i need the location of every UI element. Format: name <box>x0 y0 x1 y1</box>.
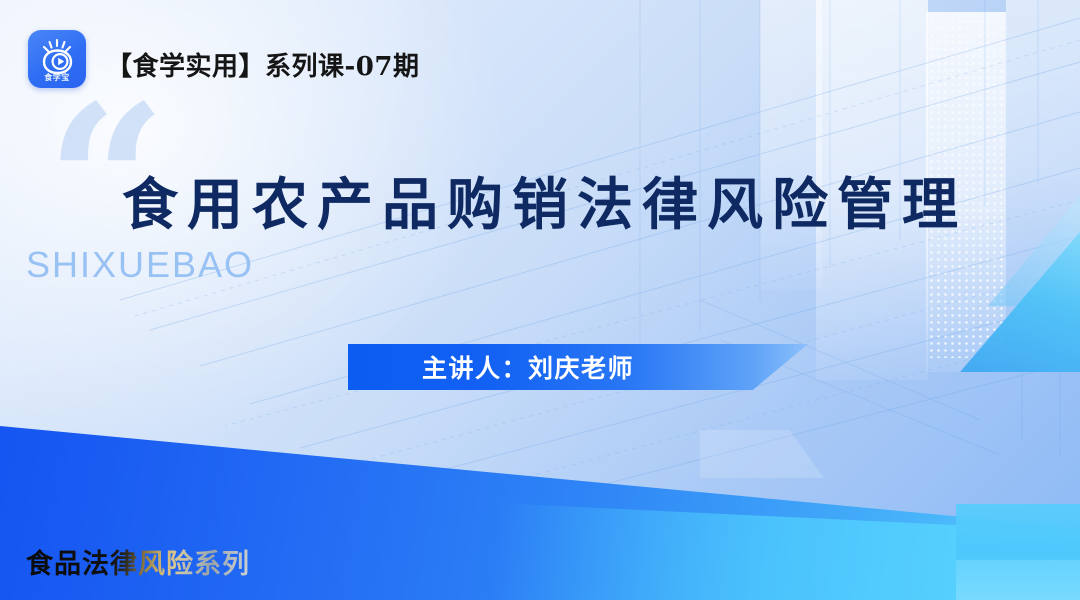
brand-logo[interactable]: 食学宝 <box>28 30 86 88</box>
speaker-label: 主讲人：刘庆老师 <box>348 349 634 385</box>
main-title: 食用农产品购销法律风险管理 <box>0 160 1080 241</box>
logo-wordmark: 食学宝 <box>28 74 86 82</box>
footer-series-label: 食品法律风险系列 <box>26 542 250 581</box>
speaker-banner: 主讲人：刘庆老师 <box>348 344 808 390</box>
brand-watermark-en: SHIXUEBAO <box>26 244 254 286</box>
series-header-title: 【食学实用】系列课-07期 <box>106 46 419 83</box>
cyan-block-decor <box>956 560 1080 600</box>
course-title-slide: “ 食学宝 【食学实用】系列课-07期 食用农产品购销法律风险管理 SHIXUE… <box>0 0 1080 600</box>
